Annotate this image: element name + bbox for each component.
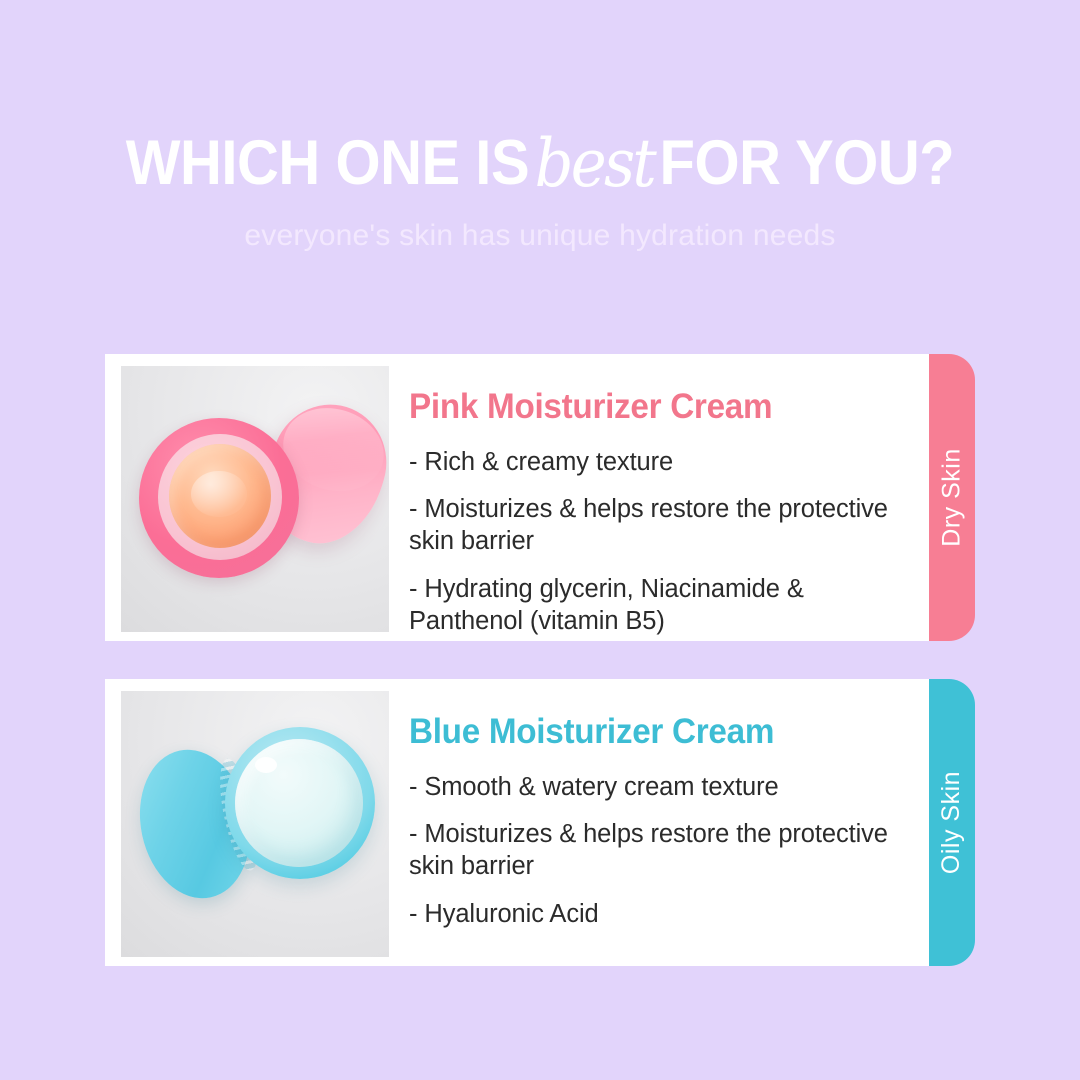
list-item: - Rich & creamy texture	[409, 446, 909, 478]
product-card-pink[interactable]: Pink Moisturizer Cream - Rich & creamy t…	[105, 354, 975, 641]
skin-type-tab-oily[interactable]: Oily Skin	[929, 679, 975, 966]
card-content: Blue Moisturizer Cream - Smooth & watery…	[389, 679, 931, 930]
product-card-blue[interactable]: Blue Moisturizer Cream - Smooth & watery…	[105, 679, 975, 966]
skin-type-tab-dry[interactable]: Dry Skin	[929, 354, 975, 641]
status-badge: Oily Skin	[938, 771, 967, 874]
page-subtitle: everyone's skin has unique hydration nee…	[0, 219, 1080, 253]
list-item: - Smooth & watery cream texture	[409, 771, 909, 803]
headline-part-1: WHICH ONE IS	[126, 131, 529, 195]
headline-part-2: FOR YOU?	[660, 131, 955, 195]
page-title: WHICH ONE ISbestFOR YOU?	[43, 128, 1037, 195]
list-item: - Hyaluronic Acid	[409, 898, 909, 930]
poster-canvas: WHICH ONE ISbestFOR YOU? everyone's skin…	[0, 0, 1080, 1080]
header: WHICH ONE ISbestFOR YOU? everyone's skin…	[0, 128, 1080, 253]
card-body: Blue Moisturizer Cream - Smooth & watery…	[105, 679, 931, 966]
product-title-blue: Blue Moisturizer Cream	[409, 713, 884, 752]
feature-list-blue: - Smooth & watery cream texture - Moistu…	[409, 771, 909, 931]
headline-script-word: best	[529, 125, 659, 202]
blue-moisturizer-jar-photo	[121, 691, 389, 957]
feature-list-pink: - Rich & creamy texture - Moisturizes & …	[409, 446, 909, 638]
pink-cream-surface-icon	[169, 444, 271, 548]
blue-gel-surface-icon	[235, 739, 363, 867]
card-content: Pink Moisturizer Cream - Rich & creamy t…	[389, 354, 931, 637]
list-item: - Hydrating glycerin, Niacinamide & Pant…	[409, 573, 909, 638]
status-badge: Dry Skin	[938, 448, 967, 546]
list-item: - Moisturizes & helps restore the protec…	[409, 818, 909, 883]
pink-moisturizer-jar-photo	[121, 366, 389, 632]
product-title-pink: Pink Moisturizer Cream	[409, 388, 884, 427]
card-body: Pink Moisturizer Cream - Rich & creamy t…	[105, 354, 931, 641]
list-item: - Moisturizes & helps restore the protec…	[409, 493, 909, 558]
